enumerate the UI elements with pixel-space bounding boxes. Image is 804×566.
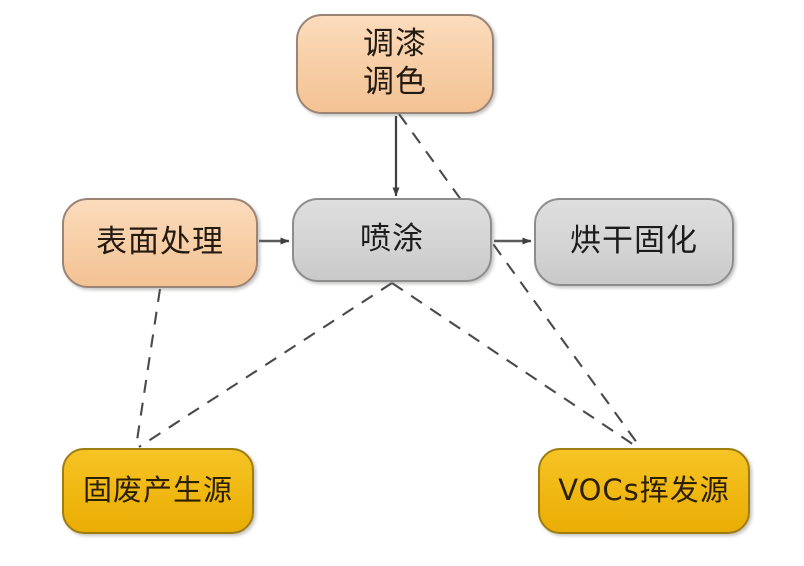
node-biaomian-chuli[interactable]: 表面处理 [62, 198, 258, 288]
node-pentu[interactable]: 喷涂 [292, 198, 492, 282]
node-label: 固废产生源 [64, 473, 252, 508]
node-tiaoqi-tiaose[interactable]: 调漆 调色 [296, 14, 494, 114]
node-label: VOCs挥发源 [540, 473, 748, 508]
node-label: 表面处理 [64, 224, 256, 262]
node-guufei-chanshengyuan[interactable]: 固废产生源 [62, 448, 254, 534]
diagram-canvas: 调漆 调色 表面处理 喷涂 烘干固化 固废产生源 VOCs挥发源 [0, 0, 804, 566]
node-label: 调漆 调色 [298, 26, 492, 102]
edge-biaomian-to-guufei [136, 289, 160, 447]
edge-pentu-to-guufei [139, 283, 392, 447]
node-label: 喷涂 [294, 221, 490, 259]
node-honggan-guhua[interactable]: 烘干固化 [534, 198, 734, 286]
node-label: 烘干固化 [536, 223, 732, 261]
node-vocs-huifayuan[interactable]: VOCs挥发源 [538, 448, 750, 534]
edge-pentu-to-vocs [392, 283, 637, 447]
